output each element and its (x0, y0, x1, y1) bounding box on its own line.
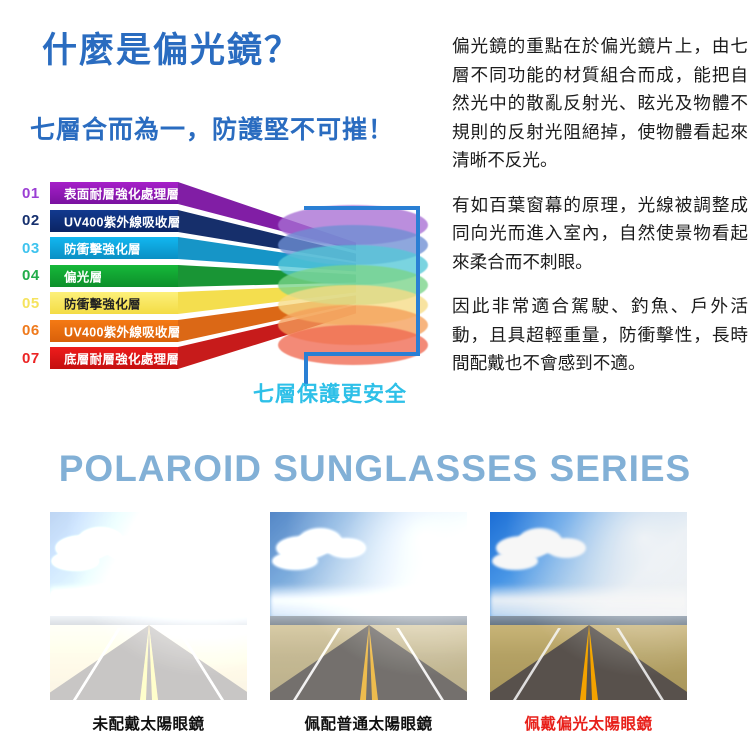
layer-label: 偏光層 (64, 266, 102, 285)
layer-number: 03 (22, 240, 50, 257)
cloud (492, 552, 538, 570)
layer-number: 04 (22, 267, 50, 284)
photo-caption: 佩配普通太陽眼鏡 (270, 712, 467, 734)
photo-cell: 佩配普通太陽眼鏡 (270, 512, 467, 734)
layer-label: 底層耐層強化處理層 (64, 349, 179, 368)
description-column: 偏光鏡的重點在於偏光鏡片上，由七層不同功能的材質組合而成，能把自然光中的散亂反射… (452, 32, 748, 394)
center-line-gap (586, 625, 592, 700)
series-banner: POLAROID SUNGLASSES SERIES (0, 448, 750, 490)
road-photo (50, 512, 247, 700)
bracket-pointer (300, 196, 430, 386)
paragraph-3: 因此非常適合駕駛、釣魚、戶外活動，且具超輕重量，防衝擊性，長時間配戴也不會感到不… (452, 292, 748, 378)
layer-label: 防衝擊強化層 (64, 294, 141, 313)
photo-caption: 佩戴偏光太陽眼鏡 (490, 712, 687, 734)
cloud-band (490, 584, 687, 618)
center-line-gap (146, 625, 152, 700)
layer-number: 02 (22, 212, 50, 229)
layer-row: 01表面耐層強化處理層 (22, 180, 342, 206)
paragraph-2: 有如百葉窗幕的原理，光線被調整成同向光而進入室內，自然使景物看起來柔合而不刺眼。 (452, 191, 748, 277)
horizon-line (490, 616, 687, 625)
layer-bar: 表面耐層強化處理層 (50, 182, 342, 204)
photo-comparison-row: 未配戴太陽眼鏡佩配普通太陽眼鏡佩戴偏光太陽眼鏡 (0, 512, 750, 742)
cloud (546, 538, 586, 558)
page-title: 什麼是偏光鏡？ (42, 22, 301, 73)
layer-label: UV400紫外線吸收層 (64, 321, 181, 340)
layer-number: 07 (22, 350, 50, 367)
horizon-line (50, 616, 247, 625)
road-photo (270, 512, 467, 700)
layer-label: UV400紫外線吸收層 (64, 211, 181, 230)
cloud (326, 538, 366, 558)
layer-number: 01 (22, 185, 50, 202)
page-subtitle: 七層合而為一，防護堅不可摧！ (30, 110, 394, 146)
cloud (52, 552, 98, 570)
infographic-root: 什麼是偏光鏡？ 七層合而為一，防護堅不可摧！ 偏光鏡的重點在於偏光鏡片上，由七層… (0, 0, 750, 750)
cloud (272, 552, 318, 570)
photo-caption: 未配戴太陽眼鏡 (50, 712, 247, 734)
layer-number: 06 (22, 322, 50, 339)
center-line-gap (366, 625, 372, 700)
cloud-band (270, 584, 467, 618)
cloud-band (50, 584, 247, 618)
lens-stack-caption: 七層保護更安全 (253, 378, 407, 408)
layer-label: 防衝擊強化層 (64, 239, 141, 258)
cloud (106, 538, 146, 558)
paragraph-1: 偏光鏡的重點在於偏光鏡片上，由七層不同功能的材質組合而成，能把自然光中的散亂反射… (452, 32, 748, 175)
road-photo (490, 512, 687, 700)
photo-cell: 未配戴太陽眼鏡 (50, 512, 247, 734)
horizon-line (270, 616, 467, 625)
layer-number: 05 (22, 295, 50, 312)
layer-label: 表面耐層強化處理層 (64, 184, 179, 203)
photo-cell: 佩戴偏光太陽眼鏡 (490, 512, 687, 734)
